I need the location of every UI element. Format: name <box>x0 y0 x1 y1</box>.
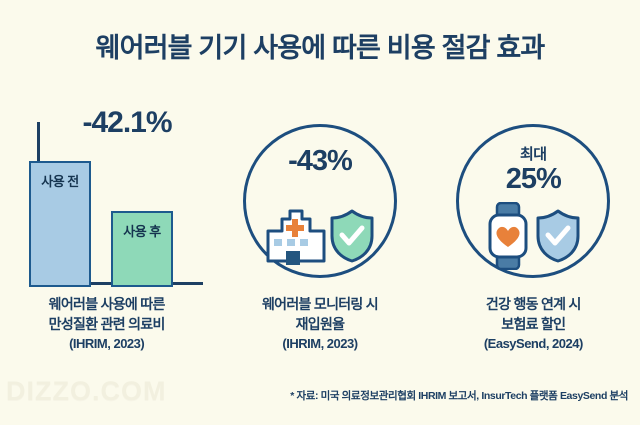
caption-line-1: 웨어러블 모니터링 시 <box>213 294 426 314</box>
shield-check-icon <box>534 208 582 269</box>
caption-source: (EasySend, 2024) <box>427 334 640 353</box>
panel-visual: -42.1% 사용 전 사용 후 <box>0 104 213 290</box>
hospital-icon <box>264 207 326 270</box>
caption-line-2: 보험료 할인 <box>427 314 640 334</box>
caption-source: (IHRIM, 2023) <box>0 334 213 353</box>
stat-value: 25% <box>459 165 607 194</box>
stat-circle: -43% <box>243 124 397 278</box>
panel-caption: 웨어러블 모니터링 시 재입원율 (IHRIM, 2023) <box>213 294 426 353</box>
stat-text: -43% <box>246 147 394 176</box>
shield-check-icon <box>328 208 376 269</box>
caption-line-1: 건강 행동 연계 시 <box>427 294 640 314</box>
stat-text: 최대 25% <box>459 147 607 194</box>
stat-value: -43% <box>246 147 394 176</box>
bar-after: 사용 후 <box>111 211 173 287</box>
panel-insurance-discount: 최대 25% <box>427 104 640 369</box>
caption-line-2: 만성질환 관련 의료비 <box>0 314 213 334</box>
stat-circle: 최대 25% <box>456 124 610 278</box>
source-footnote: * 자료: 미국 의료정보관리협회 IHRIM 보고서, InsurTech 플… <box>290 388 628 403</box>
watermark: DIZZO.COM <box>6 376 166 407</box>
bar-before: 사용 전 <box>29 161 91 287</box>
panel-readmission-rate: -43% <box>213 104 426 369</box>
page-title: 웨어러블 기기 사용에 따른 비용 절감 효과 <box>0 26 640 65</box>
chart-delta-label: -42.1% <box>52 106 202 140</box>
panel-caption: 웨어러블 사용에 따른 만성질환 관련 의료비 (IHRIM, 2023) <box>0 294 213 353</box>
bar-after-label: 사용 후 <box>113 221 171 240</box>
bar-before-label: 사용 전 <box>31 171 89 190</box>
caption-line-2: 재입원율 <box>213 314 426 334</box>
stat-prefix: 최대 <box>459 147 607 162</box>
caption-source: (IHRIM, 2023) <box>213 334 426 353</box>
panel-chronic-care-cost: -42.1% 사용 전 사용 후 웨어러블 사용에 따른 만성질환 관련 의료비… <box>0 104 213 369</box>
stats-panels: -42.1% 사용 전 사용 후 웨어러블 사용에 따른 만성질환 관련 의료비… <box>0 104 640 369</box>
icon-group <box>246 203 394 273</box>
icon-group <box>459 203 607 273</box>
panel-visual: -43% <box>213 104 426 290</box>
smartwatch-heart-icon <box>484 202 532 275</box>
panel-caption: 건강 행동 연계 시 보험료 할인 (EasySend, 2024) <box>427 294 640 353</box>
bar-chart: -42.1% 사용 전 사용 후 <box>0 104 213 290</box>
panel-visual: 최대 25% <box>427 104 640 290</box>
caption-line-1: 웨어러블 사용에 따른 <box>0 294 213 314</box>
